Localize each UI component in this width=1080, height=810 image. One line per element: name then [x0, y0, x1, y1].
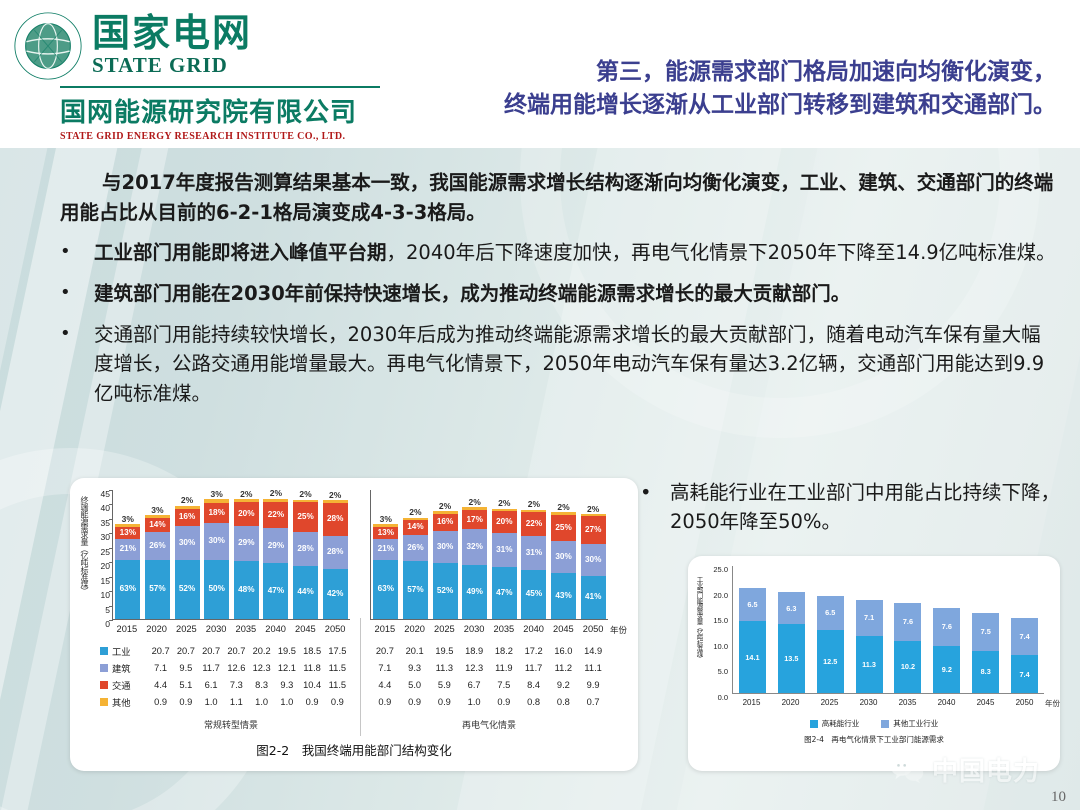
bar-segment-industry: 43%: [551, 573, 576, 619]
table-row: 4.45.05.96.77.58.49.29.9: [370, 676, 608, 693]
table-cell: 7.3: [224, 680, 249, 690]
legend-color-chip: [100, 681, 108, 689]
bar-column: 2%25%30%43%: [549, 490, 579, 619]
bar-segment-other-industry: 7.6: [933, 608, 960, 647]
lead-paragraph: 与2017年度报告测算结果基本一致，我国能源需求增长结构逐渐向均衡化演变，工业、…: [60, 168, 1060, 227]
bar-segment-transport: 22%: [263, 502, 288, 529]
axis-baseline: [371, 619, 608, 620]
legend-label: 高耗能行业: [822, 718, 860, 729]
bar-segment-energy-intensive: 7.4: [1011, 655, 1038, 693]
x-tick-label: 2050: [578, 624, 608, 638]
bar-column: 2%16%30%52%: [172, 490, 202, 619]
x-tick-label: 2040: [519, 624, 549, 638]
table-cell: 0.7: [578, 697, 608, 707]
bar-segment-other-industry: 6.3: [778, 592, 805, 624]
table-cell: 10.4: [300, 680, 325, 690]
table-cell: 5.1: [173, 680, 198, 690]
logo-divider: [60, 86, 380, 88]
x-tick-label: 2030: [849, 698, 888, 707]
x-tick-label: 2025: [172, 624, 202, 638]
watermark-text: 中国电力: [932, 751, 1040, 788]
bar-column: 2%20%31%47%: [490, 490, 520, 619]
bar-column: 2%22%31%45%: [519, 490, 549, 619]
left-chart-ylabel: 终端能源需求量（亿吨标准煤）: [76, 496, 90, 626]
bar-segment-building: 28%: [323, 536, 348, 569]
bar-stack: 7.111.3: [856, 600, 883, 693]
y-tick: 0.0: [702, 694, 728, 720]
table-cell: 19.5: [430, 646, 460, 656]
bullet-bold-text: 工业部门用能即将进入峰值平台期: [94, 241, 387, 264]
bullet-item: • 交通部门用能持续较快增长，2030年后成为推动终端能源需求增长的最大贡献部门…: [60, 320, 1060, 409]
bar-column: 3%18%30%50%: [202, 490, 232, 619]
legend-label: 建筑: [112, 661, 131, 675]
slide-title: 第三，能源需求部门格局加速向均衡化演变， 终端用能增长逐渐从工业部门转移到建筑和…: [406, 56, 1056, 121]
x-tick-label: 2030: [201, 624, 231, 638]
bar-column: 3%14%26%57%: [143, 490, 173, 619]
bar-segment-other-industry: 6.5: [817, 596, 844, 629]
bar-segment-energy-intensive: 10.2: [894, 641, 921, 693]
bar-stack: 20%31%47%: [492, 509, 517, 619]
table-cell: 11.9: [489, 663, 519, 673]
bar-column: 2%28%28%42%: [320, 490, 350, 619]
bar-segment-building: 29%: [234, 526, 259, 561]
right-chart-xaxis: 20152020202520302035204020452050: [732, 698, 1044, 707]
table-row: 建筑7.19.511.712.612.312.111.811.5: [100, 659, 350, 676]
table-cell: 1.0: [249, 697, 274, 707]
bar-segment-transport: 18%: [204, 503, 229, 524]
table-cell: 20.7: [370, 646, 400, 656]
table-cell: 11.3: [430, 663, 460, 673]
bar-segment-building: 30%: [175, 526, 200, 559]
y-tick: 35: [92, 519, 110, 533]
bar-stack: 7.47.4: [1011, 618, 1038, 693]
bar-column: 7.47.4: [1005, 566, 1044, 693]
panel-divider: [360, 618, 361, 736]
bar-segment-transport: 13%: [115, 527, 140, 540]
table-cell: 17.5: [325, 646, 350, 656]
table-cell: 18.5: [300, 646, 325, 656]
bar-stack: 14%26%57%: [403, 518, 428, 619]
table-cell: 18.2: [489, 646, 519, 656]
bar-column: 2%16%30%52%: [430, 490, 460, 619]
bar-segment-industry: 42%: [323, 569, 348, 619]
x-tick-label: 2015: [370, 624, 400, 638]
table-row: 工业20.720.720.720.720.219.518.517.5: [100, 642, 350, 659]
left-chart-table-reelectrification: 20.720.119.518.918.217.216.014.97.19.311…: [370, 642, 608, 710]
bar-segment-transport: 27%: [581, 516, 606, 544]
table-cell: 11.7: [199, 663, 224, 673]
table-row: 交通4.45.16.17.38.39.310.411.5: [100, 676, 350, 693]
table-cell: 11.7: [519, 663, 549, 673]
wechat-icon: [890, 756, 924, 784]
bar-segment-energy-intensive: 14.1: [739, 621, 766, 693]
x-tick-label: 2045: [966, 698, 1005, 707]
y-tick: 40: [92, 504, 110, 518]
bar-stack: 13%21%63%: [373, 524, 398, 619]
left-chart-yticks: 454035302520151050: [92, 490, 110, 620]
bar-stack: 25%30%43%: [551, 512, 576, 618]
bar-segment-industry: 41%: [581, 576, 606, 619]
table-cell: 0.9: [148, 697, 173, 707]
bar-segment-industry: 52%: [175, 560, 200, 619]
bullet-marker: •: [60, 320, 94, 409]
legend-color-chip: [881, 720, 889, 728]
table-cell: 14.9: [578, 646, 608, 656]
table-cell: 12.6: [224, 663, 249, 673]
table-cell: 0.9: [300, 697, 325, 707]
axis-baseline: [113, 619, 350, 620]
bar-segment-industry: 47%: [263, 563, 288, 619]
bar-segment-building: 28%: [293, 532, 318, 566]
y-tick: 5.0: [702, 668, 728, 694]
bullet-rest-text: ，2040年后下降速度加快，再电气化情景下2050年下降至14.9亿吨标准煤。: [387, 241, 1056, 264]
bar-segment-building: 31%: [492, 533, 517, 567]
y-tick: 20.0: [702, 592, 728, 618]
bar-segment-transport: 25%: [551, 515, 576, 541]
bar-segment-transport: 20%: [492, 511, 517, 532]
x-tick-label: 2040: [261, 624, 291, 638]
left-chart-table-conventional: 工业20.720.720.720.720.219.518.517.5建筑7.19…: [100, 642, 350, 710]
x-tick-label: 2020: [771, 698, 810, 707]
table-value-cells: 7.19.311.312.311.911.711.211.1: [370, 663, 608, 673]
right-chart-plot: 6.514.16.313.56.512.57.111.37.610.27.69.…: [732, 566, 1044, 694]
bar-top-label: 2%: [439, 502, 451, 511]
left-chart-xlabel: 年份: [610, 624, 627, 636]
y-tick: 10.0: [702, 643, 728, 669]
bar-segment-other-industry: 7.4: [1011, 618, 1038, 656]
table-cell: 0.9: [430, 697, 460, 707]
table-value-cells: 0.90.90.91.00.90.80.80.7: [370, 697, 608, 707]
bar-stack: 6.313.5: [778, 592, 805, 693]
left-chart-plot-conventional: 3%13%21%63%3%14%26%57%2%16%30%52%3%18%30…: [112, 490, 350, 620]
bar-segment-transport: 17%: [462, 510, 487, 529]
x-tick-label: 2015: [732, 698, 771, 707]
state-grid-logo-block: 国家电网 STATE GRID 国网能源研究院有限公司 STATE GRID E…: [12, 10, 392, 142]
bar-segment-industry: 44%: [293, 566, 318, 619]
left-chart-caption: 图2-2 我国终端用能部门结构变化: [70, 740, 638, 759]
bar-stack: 6.512.5: [817, 596, 844, 693]
y-tick: 5: [92, 606, 110, 620]
slide-body: 与2017年度报告测算结果基本一致，我国能源需求增长结构逐渐向均衡化演变，工业、…: [0, 148, 1080, 810]
bar-segment-other-industry: 7.5: [972, 613, 999, 651]
table-cell: 6.7: [459, 680, 489, 690]
table-cell: 1.0: [274, 697, 299, 707]
bar-stack: 22%29%47%: [263, 499, 288, 619]
table-cell: 5.9: [430, 680, 460, 690]
right-chart-caption: 图2-4 再电气化情景下工业部门能源需求: [688, 734, 1060, 745]
bullet-marker: •: [60, 279, 94, 309]
y-tick: 15: [92, 577, 110, 591]
bar-top-label: 3%: [211, 490, 223, 499]
bar-column: 6.514.1: [733, 566, 772, 693]
x-tick-label: 2025: [810, 698, 849, 707]
bar-column: 2%17%32%49%: [460, 490, 490, 619]
bar-segment-building: 29%: [263, 528, 288, 563]
bar-segment-industry: 48%: [234, 561, 259, 619]
legend-label: 其他: [112, 695, 131, 709]
x-tick-label: 2020: [142, 624, 172, 638]
table-cell: 11.5: [325, 680, 350, 690]
x-tick-label: 2045: [549, 624, 579, 638]
bar-segment-other-industry: 6.5: [739, 588, 766, 621]
bar-group-industry: 6.514.16.313.56.512.57.111.37.610.27.69.…: [733, 566, 1044, 693]
right-chart-yticks: 25.020.015.010.05.00.0: [702, 566, 728, 694]
chart-card-fig2-4: 工业部门能源需求量（亿吨标准煤） 25.020.015.010.05.00.0 …: [688, 556, 1060, 771]
bar-segment-industry: 45%: [521, 570, 546, 619]
bullet-item: • 工业部门用能即将进入峰值平台期，2040年后下降速度加快，再电气化情景下20…: [60, 238, 1060, 268]
bar-segment-energy-intensive: 9.2: [933, 646, 960, 693]
table-cell: 6.1: [199, 680, 224, 690]
legend-color-chip: [100, 698, 108, 706]
table-cell: 4.4: [148, 680, 173, 690]
bar-segment-building: 26%: [403, 535, 428, 562]
bar-stack: 28%28%42%: [323, 500, 348, 618]
bar-stack: 17%32%49%: [462, 507, 487, 618]
bar-segment-energy-intensive: 8.3: [972, 651, 999, 693]
table-cell: 20.1: [400, 646, 430, 656]
bullet-marker: •: [60, 238, 94, 268]
right-bullet-text: 高耗能行业在工业部门中用能占比持续下降，2050年降至50%。: [670, 478, 1070, 537]
table-cell: 0.9: [325, 697, 350, 707]
bar-column: 2%25%28%44%: [291, 490, 321, 619]
bar-segment-industry: 52%: [433, 563, 458, 619]
bar-column: 6.313.5: [772, 566, 811, 693]
bullet-item: • 建筑部门用能在2030年前保持快速增长，成为推动终端能源需求增长的最大贡献部…: [60, 279, 1060, 309]
legend-color-chip: [810, 720, 818, 728]
bar-stack: 7.69.2: [933, 608, 960, 693]
bar-stack: 18%30%50%: [204, 499, 229, 618]
bar-segment-building: 32%: [462, 529, 487, 564]
table-cell: 9.3: [400, 663, 430, 673]
bar-top-label: 3%: [380, 515, 392, 524]
table-cell: 9.9: [578, 680, 608, 690]
right-bullet-item: • 高耗能行业在工业部门中用能占比持续下降，2050年降至50%。: [640, 478, 1070, 537]
table-cell: 20.7: [148, 646, 173, 656]
left-chart-xaxis-reelectrification: 20152020202520302035204020452050: [370, 624, 608, 638]
table-cell: 11.5: [325, 663, 350, 673]
wechat-watermark: 中国电力: [890, 751, 1040, 788]
table-cell: 1.0: [199, 697, 224, 707]
bar-group-reelectrification: 3%13%21%63%2%14%26%57%2%16%30%52%2%17%32…: [371, 490, 608, 619]
bar-column: 3%13%21%63%: [113, 490, 143, 619]
table-cell: 12.3: [459, 663, 489, 673]
right-chart-xlabel: 年份: [1045, 698, 1060, 709]
bar-top-label: 3%: [122, 515, 134, 524]
table-cell: 0.9: [370, 697, 400, 707]
table-cell: 20.7: [224, 646, 249, 656]
bar-segment-energy-intensive: 11.3: [856, 636, 883, 693]
institute-english-name: STATE GRID ENERGY RESEARCH INSTITUTE CO.…: [60, 131, 392, 142]
bar-column: 2%20%29%48%: [232, 490, 262, 619]
bar-top-label: 2%: [498, 499, 510, 508]
bar-segment-building: 30%: [581, 544, 606, 576]
bar-top-label: 2%: [528, 500, 540, 509]
table-cell: 8.4: [519, 680, 549, 690]
table-cell: 7.5: [489, 680, 519, 690]
y-tick: 45: [92, 490, 110, 504]
table-cell: 12.3: [249, 663, 274, 673]
x-tick-label: 2025: [430, 624, 460, 638]
x-tick-label: 2050: [320, 624, 350, 638]
legend-key: 交通: [100, 678, 148, 692]
bar-stack: 6.514.1: [739, 588, 766, 693]
legend-key: 工业: [100, 644, 148, 658]
bar-segment-energy-intensive: 12.5: [817, 630, 844, 694]
bar-segment-transport: 14%: [145, 518, 170, 533]
bar-stack: 7.58.3: [972, 613, 999, 693]
bar-stack: 14%26%57%: [145, 515, 170, 618]
table-cell: 20.7: [173, 646, 198, 656]
table-cell: 20.7: [199, 646, 224, 656]
table-value-cells: 4.45.05.96.77.58.49.29.9: [370, 680, 608, 690]
x-tick-label: 2030: [459, 624, 489, 638]
table-cell: 9.5: [173, 663, 198, 673]
bar-top-label: 3%: [151, 506, 163, 515]
bar-segment-building: 30%: [204, 523, 229, 559]
legend-key: 其他: [100, 695, 148, 709]
table-cell: 1.0: [459, 697, 489, 707]
bar-stack: 25%28%44%: [293, 500, 318, 619]
bar-segment-industry: 57%: [145, 560, 170, 619]
content-text-block: 与2017年度报告测算结果基本一致，我国能源需求增长结构逐渐向均衡化演变，工业、…: [60, 168, 1060, 408]
legend-color-chip: [100, 647, 108, 655]
bar-segment-transport: 22%: [521, 512, 546, 536]
table-cell: 8.3: [249, 680, 274, 690]
bar-top-label: 2%: [409, 508, 421, 517]
bar-segment-transport: 14%: [403, 520, 428, 534]
bar-top-label: 2%: [469, 498, 481, 507]
x-tick-label: 2050: [1005, 698, 1044, 707]
bar-segment-transport: 16%: [175, 509, 200, 526]
legend-item: 其他工业行业: [881, 718, 938, 729]
page-number: 10: [1051, 789, 1066, 806]
logo-chinese-name: 国家电网: [92, 14, 252, 52]
bar-segment-transport: 25%: [293, 502, 318, 532]
bar-segment-transport: 20%: [234, 502, 259, 526]
x-tick-label: 2035: [888, 698, 927, 707]
table-cell: 11.2: [549, 663, 579, 673]
left-chart-xaxis-conventional: 20152020202520302035204020452050: [112, 624, 350, 638]
bar-top-label: 2%: [270, 489, 282, 498]
table-row: 其他0.90.91.01.11.01.00.90.9: [100, 693, 350, 710]
bar-segment-industry: 50%: [204, 560, 229, 619]
bar-stack: 27%30%41%: [581, 514, 606, 619]
slide-header: 国家电网 STATE GRID 国网能源研究院有限公司 STATE GRID E…: [0, 0, 1080, 148]
bar-segment-transport: 16%: [433, 514, 458, 531]
table-cell: 5.0: [400, 680, 430, 690]
table-cell: 12.1: [274, 663, 299, 673]
table-cell: 16.0: [549, 646, 579, 656]
scenario-label-reelectrification: 再电气化情景: [370, 718, 608, 731]
bar-group-conventional: 3%13%21%63%3%14%26%57%2%16%30%52%3%18%30…: [113, 490, 350, 619]
bar-segment-other-industry: 7.1: [856, 600, 883, 636]
bar-top-label: 2%: [557, 503, 569, 512]
bar-stack: 16%30%52%: [433, 511, 458, 619]
y-tick: 0: [92, 620, 110, 634]
x-tick-label: 2035: [489, 624, 519, 638]
bar-segment-industry: 63%: [373, 560, 398, 619]
table-cell: 9.2: [549, 680, 579, 690]
table-value-cells: 0.90.91.01.11.01.00.90.9: [148, 697, 350, 707]
bar-top-label: 2%: [587, 505, 599, 514]
bar-top-label: 2%: [299, 490, 311, 499]
bar-segment-building: 21%: [115, 539, 140, 559]
state-grid-emblem-icon: [12, 10, 84, 82]
bar-segment-industry: 63%: [115, 560, 140, 619]
table-cell: 19.5: [274, 646, 299, 656]
x-tick-label: 2035: [231, 624, 261, 638]
table-cell: 0.8: [549, 697, 579, 707]
table-row: 20.720.119.518.918.217.216.014.9: [370, 642, 608, 659]
legend-label: 其他工业行业: [893, 718, 938, 729]
chart-card-fig2-2: 终端能源需求量（亿吨标准煤） 454035302520151050 3%13%2…: [70, 478, 638, 771]
bar-stack: 7.610.2: [894, 603, 921, 693]
institute-chinese-name: 国网能源研究院有限公司: [60, 92, 392, 129]
bar-top-label: 2%: [329, 491, 341, 500]
x-tick-label: 2045: [291, 624, 321, 638]
bar-column: 2%14%26%57%: [401, 490, 431, 619]
bar-column: 2%22%29%47%: [261, 490, 291, 619]
bar-column: 7.111.3: [850, 566, 889, 693]
bar-column: 6.512.5: [811, 566, 850, 693]
bar-column: 7.69.2: [927, 566, 966, 693]
bar-stack: 20%29%48%: [234, 499, 259, 619]
legend-key: 建筑: [100, 661, 148, 675]
bullet-marker: •: [640, 478, 670, 537]
scenario-label-conventional: 常规转型情景: [112, 718, 350, 731]
bar-segment-building: 30%: [433, 531, 458, 563]
table-row: 7.19.311.312.311.911.711.211.1: [370, 659, 608, 676]
table-cell: 9.3: [274, 680, 299, 690]
bar-segment-building: 31%: [521, 536, 546, 569]
y-tick: 10: [92, 591, 110, 605]
table-cell: 11.8: [300, 663, 325, 673]
bar-column: 3%13%21%63%: [371, 490, 401, 619]
table-value-cells: 20.720.119.518.918.217.216.014.9: [370, 646, 608, 656]
bar-segment-industry: 49%: [462, 565, 487, 619]
bar-segment-other-industry: 7.6: [894, 603, 921, 642]
bar-column: 7.610.2: [889, 566, 928, 693]
legend-label: 工业: [112, 644, 131, 658]
bar-stack: 13%21%63%: [115, 524, 140, 619]
y-tick: 30: [92, 533, 110, 547]
bar-segment-transport: 28%: [323, 503, 348, 536]
tick-mark: [109, 620, 113, 621]
table-cell: 0.9: [489, 697, 519, 707]
table-cell: 11.1: [578, 663, 608, 673]
bar-segment-building: 30%: [551, 541, 576, 573]
table-cell: 7.1: [370, 663, 400, 673]
x-tick-label: 2040: [927, 698, 966, 707]
bar-top-label: 2%: [240, 490, 252, 499]
table-cell: 4.4: [370, 680, 400, 690]
axis-baseline: [733, 693, 1044, 694]
y-tick: 25.0: [702, 566, 728, 592]
x-tick-label: 2020: [400, 624, 430, 638]
bar-column: 2%27%30%41%: [578, 490, 608, 619]
table-cell: 0.8: [519, 697, 549, 707]
table-cell: 0.9: [173, 697, 198, 707]
y-tick: 20: [92, 562, 110, 576]
legend-item: 高耗能行业: [810, 718, 860, 729]
bar-segment-industry: 47%: [492, 567, 517, 619]
table-cell: 1.1: [224, 697, 249, 707]
table-row: 0.90.90.91.00.90.80.80.7: [370, 693, 608, 710]
left-chart-plot-reelectrification: 3%13%21%63%2%14%26%57%2%16%30%52%2%17%32…: [370, 490, 608, 620]
bar-segment-building: 21%: [373, 539, 398, 559]
table-value-cells: 20.720.720.720.720.219.518.517.5: [148, 646, 350, 656]
bar-segment-transport: 13%: [373, 527, 398, 540]
